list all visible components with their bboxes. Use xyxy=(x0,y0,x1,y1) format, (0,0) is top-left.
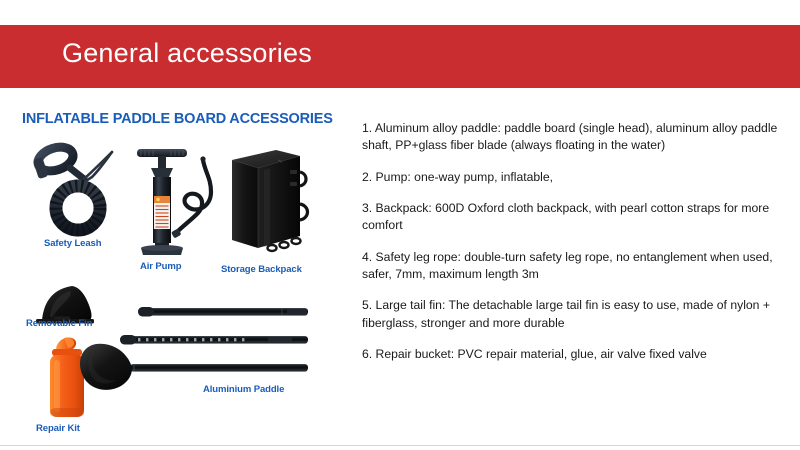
slide-root: General accessories INFLATABLE PADDLE BO… xyxy=(0,0,800,450)
safety-leash-image xyxy=(26,138,136,238)
paddle-section-top xyxy=(138,307,308,317)
description-item-1: 1. Aluminum alloy paddle: paddle board (… xyxy=(362,120,794,155)
description-item-2: 2. Pump: one-way pump, inflatable, xyxy=(362,169,794,186)
safety-leash-label: Safety Leash xyxy=(44,238,101,249)
aluminium-paddle-graphic xyxy=(82,302,322,412)
description-item-3: 3. Backpack: 600D Oxford cloth backpack,… xyxy=(362,200,794,235)
description-list: 1. Aluminum alloy paddle: paddle board (… xyxy=(362,120,794,363)
description-item-6: 6. Repair bucket: PVC repair material, g… xyxy=(362,346,794,363)
air-pump-graphic xyxy=(131,144,223,256)
air-pump-label: Air Pump xyxy=(140,261,181,272)
paddle-section-middle xyxy=(120,335,308,345)
panel-title: INFLATABLE PADDLE BOARD ACCESSORIES xyxy=(22,111,333,127)
description-item-4: 4. Safety leg rope: double-turn safety l… xyxy=(362,249,794,284)
accessories-panel: INFLATABLE PADDLE BOARD ACCESSORIES xyxy=(0,96,352,426)
page-title: General accessories xyxy=(62,38,312,69)
repair-kit-label: Repair Kit xyxy=(36,423,80,434)
aluminium-paddle-label: Aluminium Paddle xyxy=(203,384,284,395)
storage-backpack-image xyxy=(226,142,314,258)
air-pump-image xyxy=(131,144,223,256)
bottom-divider xyxy=(0,445,800,446)
aluminium-paddle-image xyxy=(82,302,322,412)
safety-leash-graphic xyxy=(26,138,136,238)
paddle-section-blade xyxy=(80,344,308,390)
storage-backpack-label: Storage Backpack xyxy=(221,264,302,275)
storage-backpack-graphic xyxy=(226,142,314,258)
description-item-5: 5. Large tail fin: The detachable large … xyxy=(362,297,794,332)
